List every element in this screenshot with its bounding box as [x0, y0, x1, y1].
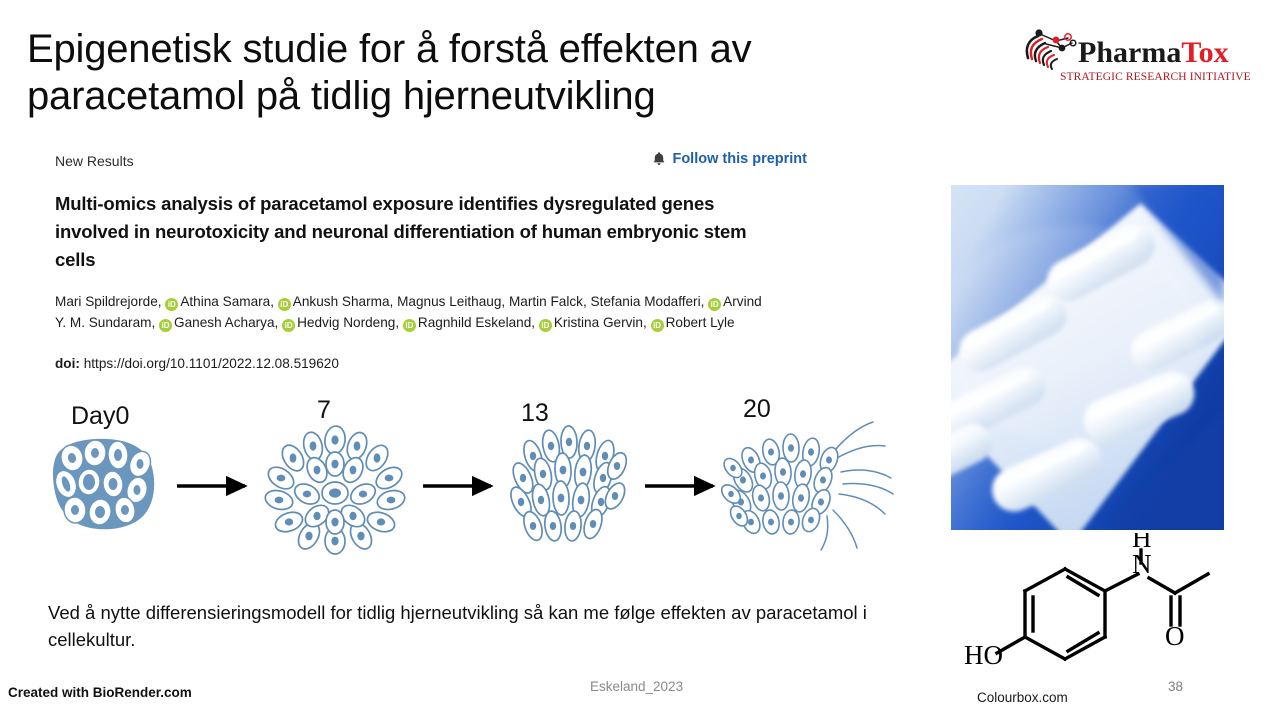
orcid-icon[interactable]: iD: [165, 298, 178, 311]
logo-tagline: STRATEGIC RESEARCH INITIATIVE: [1060, 71, 1251, 83]
stage-label-day0: Day0: [71, 402, 129, 431]
label-hydroxyl: HO: [964, 640, 1003, 670]
cell-cluster-day13: [507, 426, 630, 543]
author-name[interactable]: Ganesh Acharya: [174, 315, 275, 330]
bell-icon: [652, 151, 666, 167]
stage-label-day13: 13: [521, 399, 549, 428]
source-reference: Eskeland_2023: [590, 679, 683, 694]
new-results-label: New Results: [55, 153, 134, 169]
pharmatox-network-mark-icon: [1022, 28, 1084, 76]
logo-wordmark: PharmaTox: [1078, 38, 1229, 68]
photo-credit: Colourbox.com: [977, 690, 1068, 705]
slide: Epigenetisk studie for å forstå effekten…: [0, 0, 1280, 720]
author-name[interactable]: Ragnhild Eskeland: [418, 315, 531, 330]
page-number: 38: [1168, 679, 1183, 694]
stage-label-day20: 20: [743, 395, 771, 424]
cell-cluster-day20: [718, 422, 893, 550]
doi-value: https://doi.org/10.1101/2022.12.08.51962…: [84, 356, 339, 371]
orcid-icon[interactable]: iD: [159, 319, 172, 332]
stage-label-day7: 7: [317, 396, 331, 425]
orcid-icon[interactable]: iD: [539, 319, 552, 332]
orcid-icon[interactable]: iD: [403, 319, 416, 332]
follow-preprint-link[interactable]: Follow this preprint: [652, 151, 807, 167]
pharmatox-logo: PharmaTox STRATEGIC RESEARCH INITIATIVE: [1022, 28, 1222, 88]
biorender-credit: Created with BioRender.com: [8, 685, 192, 700]
orcid-icon[interactable]: iD: [278, 298, 291, 311]
author-name[interactable]: Athina Samara: [180, 294, 270, 309]
logo-word-pharma: Pharma: [1078, 36, 1181, 69]
orcid-icon[interactable]: iD: [282, 319, 295, 332]
author-list: Mari Spildrejorde, iDAthina Samara, iDAn…: [55, 291, 765, 333]
label-hydrogen: H: [1132, 533, 1152, 553]
blister-pack-illustration: [951, 185, 1224, 530]
author-name[interactable]: Robert Lyle: [666, 315, 735, 330]
author-name[interactable]: Ankush Sharma: [293, 294, 390, 309]
author-name[interactable]: Hedvig Nordeng: [297, 315, 395, 330]
author-name[interactable]: Magnus Leithaug: [397, 294, 501, 309]
author-name[interactable]: Stefania Modafferi: [591, 294, 701, 309]
stem-cell-differentiation-diagram: Day0 7 13 20: [45, 398, 895, 568]
logo-word-tox: Tox: [1181, 36, 1228, 69]
author-name[interactable]: Kristina Gervin: [554, 315, 643, 330]
preprint-title: Multi-omics analysis of paracetamol expo…: [55, 190, 755, 273]
preprint-screenshot: New Results Follow this preprint Multi-o…: [40, 146, 920, 386]
paracetamol-chemical-structure: HO N H O: [950, 533, 1250, 683]
page-title: Epigenetisk studie for å forstå effekten…: [27, 26, 857, 120]
orcid-icon[interactable]: iD: [651, 319, 664, 332]
follow-preprint-label: Follow this preprint: [672, 151, 807, 167]
doi-label: doi:: [55, 356, 80, 371]
paracetamol-blister-pack-photo: [951, 185, 1224, 530]
slide-caption: Ved å nytte differensieringsmodell for t…: [48, 600, 918, 654]
paracetamol-skeletal-formula: HO N H O: [950, 533, 1250, 683]
author-name[interactable]: Mari Spildrejorde: [55, 294, 158, 309]
orcid-icon[interactable]: iD: [708, 298, 721, 311]
cell-cluster-day0: [52, 439, 154, 529]
doi-line: doi: https://doi.org/10.1101/2022.12.08.…: [55, 356, 339, 371]
author-name[interactable]: Martin Falck: [509, 294, 583, 309]
label-oxygen: O: [1165, 621, 1185, 651]
cell-cluster-day7: [263, 425, 407, 555]
